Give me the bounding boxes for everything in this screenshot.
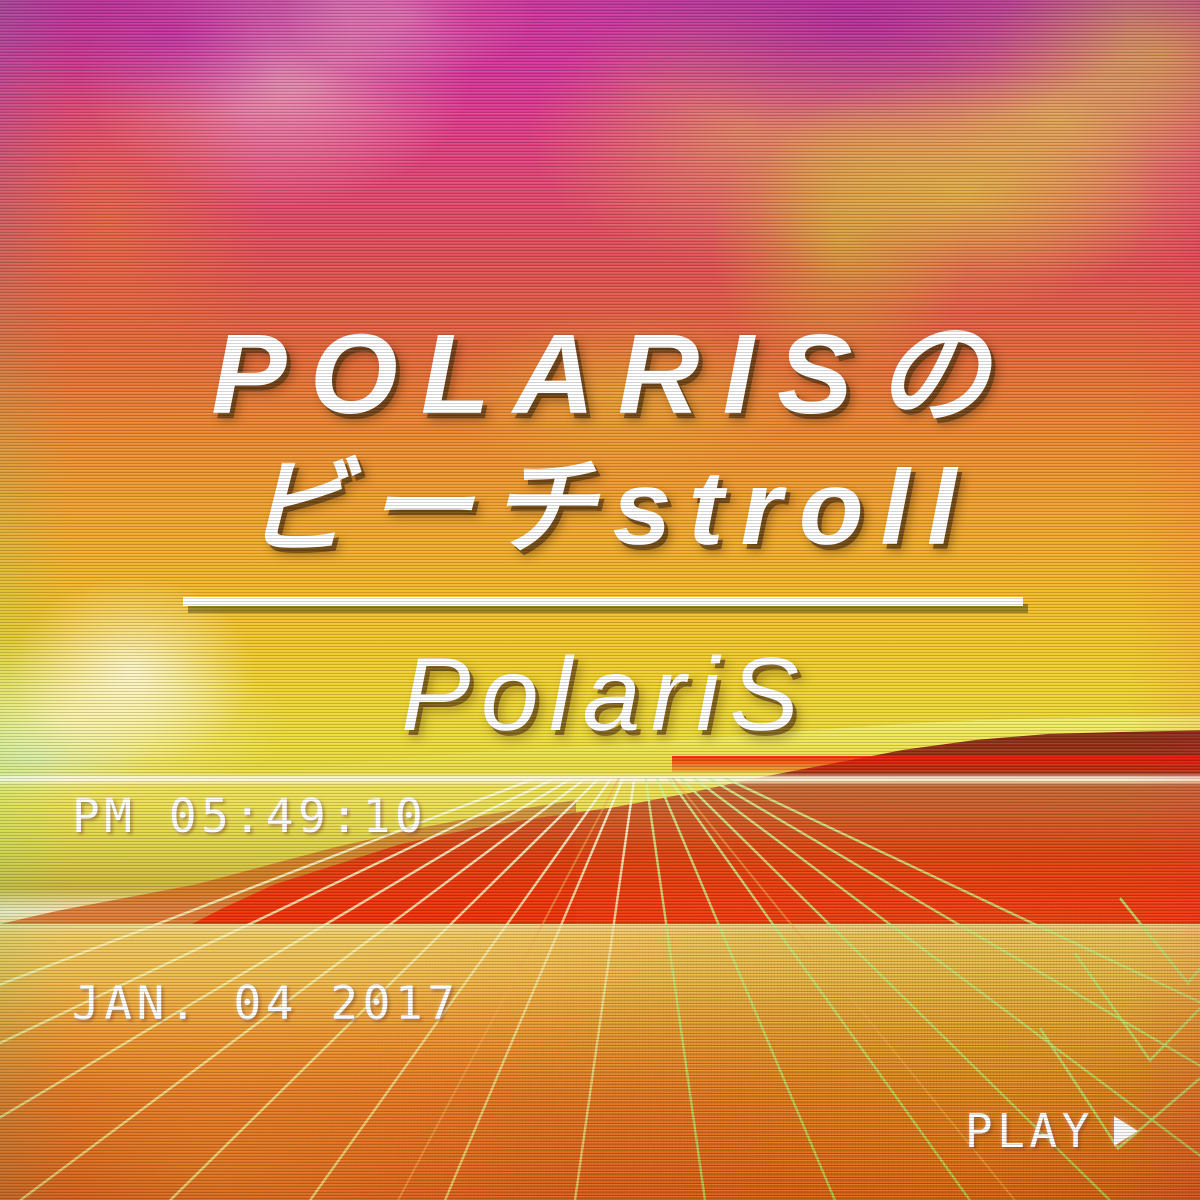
title-block: POLARISの ビーチstroll xyxy=(0,318,1200,561)
play-label: PLAY xyxy=(965,1104,1094,1158)
vcr-timestamp: PM 05:49:10 JAN. 04 2017 xyxy=(72,661,460,1158)
album-cover: POLARISの ビーチstroll PolariS PM 05:49:10 J… xyxy=(0,0,1200,1200)
title-line-2: ビーチstroll xyxy=(0,455,1200,561)
play-triangle-icon xyxy=(1114,1116,1138,1146)
title-divider-rule xyxy=(183,597,1023,606)
vcr-play-indicator: PLAY xyxy=(965,1104,1138,1158)
title-line-1: POLARISの xyxy=(0,318,1200,431)
vcr-time: PM 05:49:10 xyxy=(72,785,460,847)
vcr-date: JAN. 04 2017 xyxy=(72,972,460,1034)
background-horizon-red-band xyxy=(672,756,1200,772)
